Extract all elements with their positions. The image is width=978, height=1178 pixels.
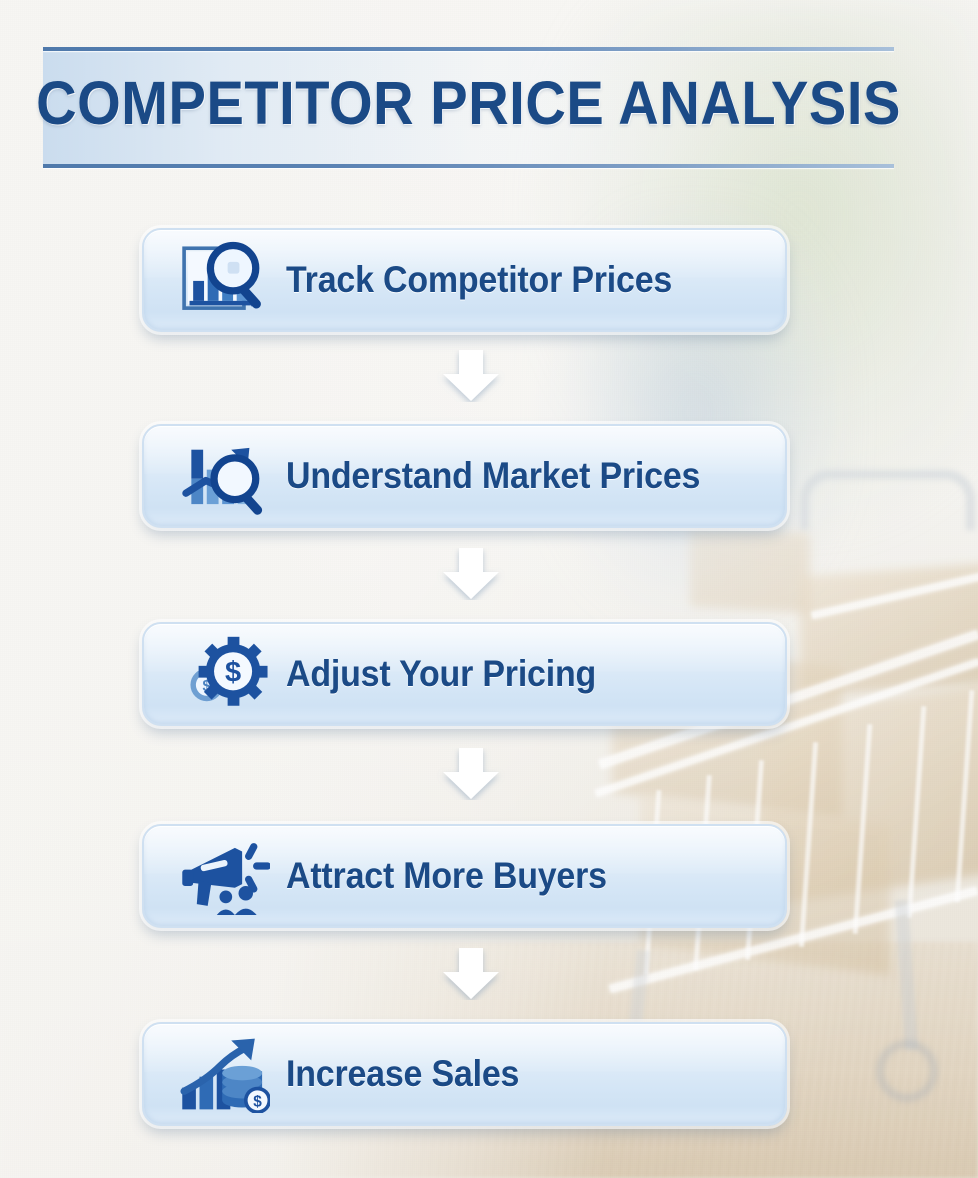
flow-step-1[interactable]: Track Competitor Prices — [142, 228, 787, 332]
page-title: COMPETITOR PRICE ANALYSIS — [34, 66, 902, 138]
flow-step-1-label: Track Competitor Prices — [286, 259, 672, 302]
arrow-down-icon — [437, 350, 505, 402]
bar-chart-magnifier-icon — [178, 241, 270, 319]
flow-step-4-label: Attract More Buyers — [286, 855, 607, 898]
arrow-down-icon — [437, 548, 505, 600]
svg-text:$: $ — [253, 1094, 262, 1111]
infographic-page: COMPETITOR PRICE ANALYSIS Track Competit… — [0, 0, 978, 1178]
flow-step-3[interactable]: $ $ Adjust Your Pricing — [142, 622, 787, 726]
arrow-down-icon — [437, 748, 505, 800]
gears-dollar-icon: $ $ — [178, 635, 270, 713]
growth-coins-dollar-icon: $ — [178, 1035, 270, 1113]
flow-step-4[interactable]: Attract More Buyers — [142, 824, 787, 928]
trend-chart-magnifier-icon — [178, 437, 270, 515]
flow-step-5-label: Increase Sales — [286, 1053, 519, 1096]
svg-text:$: $ — [225, 656, 241, 688]
page-title-banner: COMPETITOR PRICE ANALYSIS — [43, 47, 894, 168]
flow-step-3-label: Adjust Your Pricing — [286, 653, 596, 696]
flow-step-5[interactable]: $ Increase Sales — [142, 1022, 787, 1126]
megaphone-people-icon — [178, 837, 270, 915]
flow-step-2[interactable]: Understand Market Prices — [142, 424, 787, 528]
flow-step-2-label: Understand Market Prices — [286, 455, 700, 498]
title-rule-bottom — [43, 164, 894, 168]
arrow-down-icon — [437, 948, 505, 1000]
title-rule-top — [43, 47, 894, 51]
